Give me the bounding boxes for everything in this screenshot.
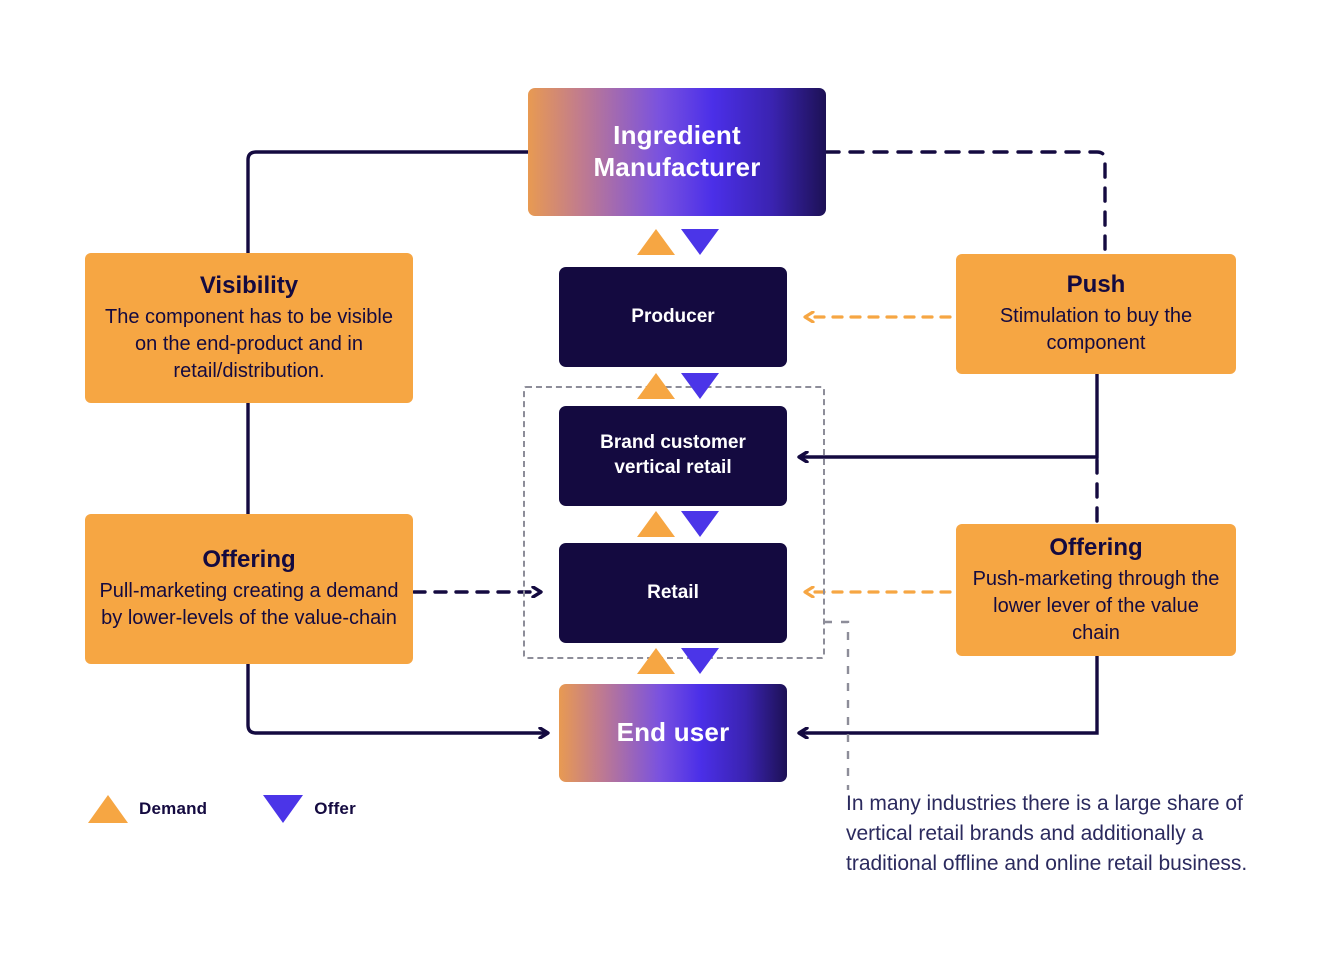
panel-heading: Offering <box>202 545 295 576</box>
panel-heading: Visibility <box>200 271 298 302</box>
flow-push-to-brand-customer <box>800 374 1097 457</box>
node-end-user[interactable]: End user <box>559 684 787 782</box>
triangle-down-icon <box>681 229 719 255</box>
node-label: End user <box>617 717 730 749</box>
node-label: Producer <box>631 305 714 330</box>
panel-body: Push-marketing through the lower lever o… <box>970 566 1222 648</box>
node-label: Ingredient Manufacturer <box>593 120 760 183</box>
diagram-canvas: Ingredient Manufacturer Producer Brand c… <box>0 0 1340 958</box>
panel-offering-push[interactable]: Offering Push-marketing through the lowe… <box>956 524 1236 656</box>
triangle-up-icon <box>88 795 128 823</box>
legend-label: Demand <box>139 799 207 819</box>
panel-body: Pull-marketing creating a demand by lowe… <box>99 578 399 632</box>
node-label: Brand customer vertical retail <box>600 431 746 480</box>
panel-visibility[interactable]: Visibility The component has to be visib… <box>85 253 413 403</box>
triangle-down-icon <box>681 511 719 537</box>
panel-body: Stimulation to buy the component <box>970 303 1222 357</box>
triangle-down-icon <box>263 795 303 823</box>
caption-vertical-retail-note: In many industries there is a large shar… <box>846 789 1266 879</box>
triangle-down-icon <box>681 648 719 674</box>
legend-item-offer: Offer <box>263 795 356 823</box>
panel-body: The component has to be visible on the e… <box>99 304 399 386</box>
flow-indicator-retail-enduser <box>637 648 719 674</box>
legend: Demand Offer <box>88 795 356 823</box>
panel-heading: Push <box>1067 270 1126 301</box>
legend-label: Offer <box>314 799 356 819</box>
node-label-line1: Brand customer <box>600 432 746 453</box>
flow-offering-right-to-end-user <box>800 656 1097 733</box>
panel-offering-pull[interactable]: Offering Pull-marketing creating a deman… <box>85 514 413 664</box>
triangle-down-icon <box>681 373 719 399</box>
node-retail[interactable]: Retail <box>559 543 787 643</box>
triangle-up-icon <box>637 373 675 399</box>
triangle-up-icon <box>637 511 675 537</box>
node-label: Retail <box>647 581 699 606</box>
flow-group-to-caption <box>824 622 848 790</box>
flow-indicator-brand-retail <box>637 511 719 537</box>
triangle-up-icon <box>637 229 675 255</box>
node-producer[interactable]: Producer <box>559 267 787 367</box>
flow-indicator-producer-brand <box>637 373 719 399</box>
legend-item-demand: Demand <box>88 795 207 823</box>
node-label-line2: vertical retail <box>614 457 731 478</box>
panel-push[interactable]: Push Stimulation to buy the component <box>956 254 1236 374</box>
node-ingredient-manufacturer[interactable]: Ingredient Manufacturer <box>528 88 826 216</box>
triangle-up-icon <box>637 648 675 674</box>
node-label-line1: Ingredient <box>613 120 741 150</box>
flow-indicator-manufacturer-producer <box>637 229 719 255</box>
node-brand-customer-vertical-retail[interactable]: Brand customer vertical retail <box>559 406 787 506</box>
flow-manufacturer-to-push <box>826 152 1105 262</box>
node-label-line2: Manufacturer <box>593 152 760 182</box>
panel-heading: Offering <box>1049 533 1142 564</box>
